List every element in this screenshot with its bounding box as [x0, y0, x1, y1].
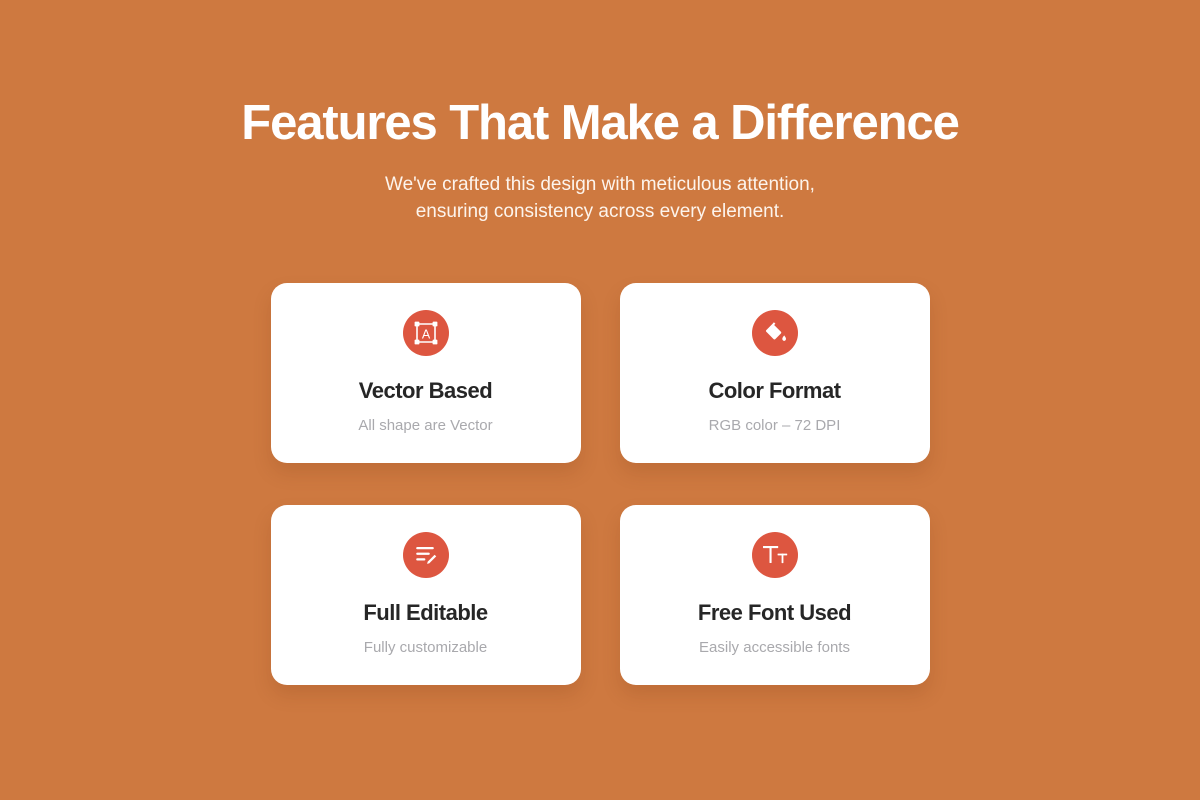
feature-card-caption: RGB color – 72 DPI [709, 416, 841, 436]
feature-card-title: Free Font Used [698, 600, 851, 626]
svg-text:A: A [421, 328, 430, 342]
feature-card-grid: A Vector Based All shape are Vector Colo… [271, 283, 930, 685]
feature-card-title: Color Format [708, 378, 840, 404]
feature-card-full-editable[interactable]: Full Editable Fully customizable [271, 505, 581, 685]
feature-card-caption: Easily accessible fonts [699, 638, 850, 658]
feature-card-caption: All shape are Vector [358, 416, 492, 436]
feature-card-vector-based[interactable]: A Vector Based All shape are Vector [271, 283, 581, 463]
edit-document-icon [403, 532, 449, 578]
feature-card-free-font-used[interactable]: Free Font Used Easily accessible fonts [620, 505, 930, 685]
typography-icon [752, 532, 798, 578]
page-subtitle-line-2: ensuring consistency across every elemen… [0, 199, 1200, 226]
vector-artboard-icon: A [403, 310, 449, 356]
page-header: Features That Make a Difference We've cr… [0, 97, 1200, 226]
feature-card-color-format[interactable]: Color Format RGB color – 72 DPI [620, 283, 930, 463]
page-title: Features That Make a Difference [0, 97, 1200, 150]
paint-bucket-icon [752, 310, 798, 356]
feature-card-title: Full Editable [363, 600, 487, 626]
page-subtitle: We've crafted this design with meticulou… [0, 172, 1200, 226]
feature-card-caption: Fully customizable [364, 638, 487, 658]
feature-card-title: Vector Based [359, 378, 492, 404]
page-subtitle-line-1: We've crafted this design with meticulou… [0, 172, 1200, 199]
